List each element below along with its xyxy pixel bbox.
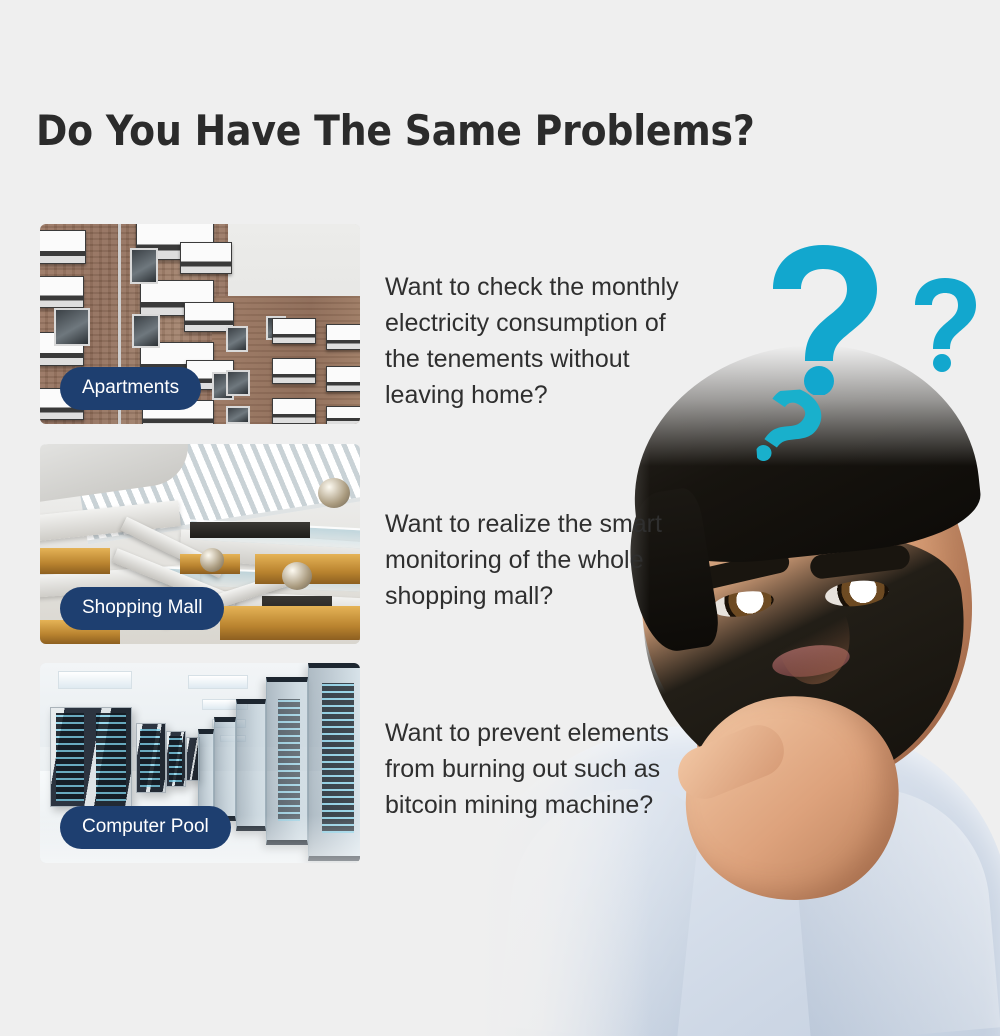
problem-text-shopping-mall: Want to realize the smart monitoring of …: [385, 506, 730, 614]
page-title: Do You Have The Same Problems?: [36, 106, 755, 155]
badge-shopping-mall: Shopping Mall: [60, 587, 224, 630]
problem-text-apartments: Want to check the monthly electricity co…: [385, 269, 730, 413]
badge-apartments: Apartments: [60, 367, 201, 410]
thumbnail-shopping-mall[interactable]: Shopping Mall: [40, 444, 360, 644]
problem-text-computer-pool: Want to prevent elements from burning ou…: [385, 715, 730, 823]
problem-list: Apartments Want to check the monthly ele…: [0, 0, 1000, 1036]
thumbnail-apartments[interactable]: Apartments: [40, 224, 360, 424]
thumbnail-computer-pool[interactable]: Computer Pool: [40, 663, 360, 863]
badge-computer-pool: Computer Pool: [60, 806, 231, 849]
